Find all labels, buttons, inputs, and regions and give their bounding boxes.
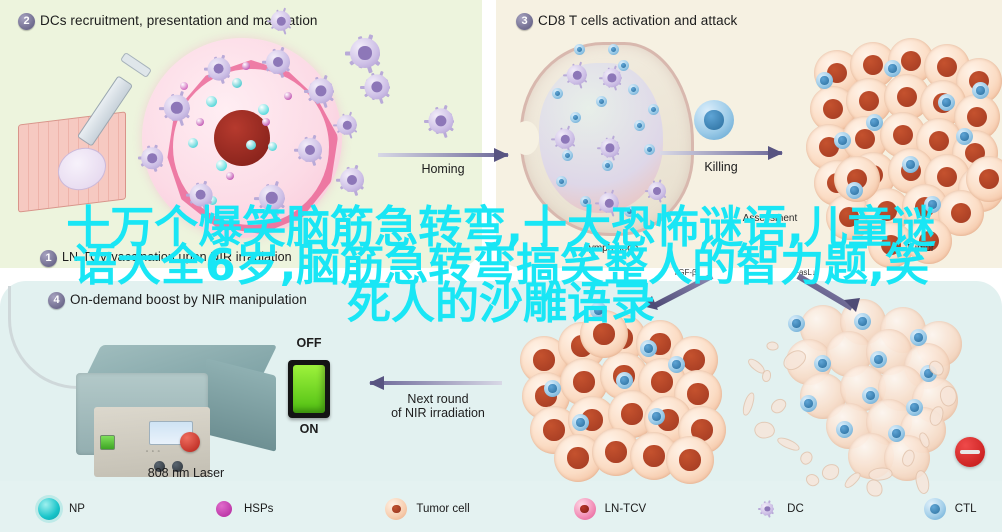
- ctl-cell: [884, 60, 901, 77]
- vaccine-surface-particle: [188, 138, 198, 148]
- dc-nucleus: [435, 115, 446, 126]
- laser-status-leds: ▫ ▫ ▫: [146, 449, 161, 455]
- legend-row: NP HSPs Tumor cell LN-TCV DC CTL: [0, 486, 1002, 532]
- laser-front-panel: ▫ ▫ ▫: [76, 373, 208, 455]
- ctl-cell: [608, 44, 619, 55]
- dendritic-cell: [134, 140, 170, 176]
- dc-nucleus: [277, 17, 286, 26]
- step-label-4: On-demand boost by NIR manipulation: [70, 292, 307, 307]
- dc-body: [555, 129, 575, 149]
- ctl-cell: [570, 112, 581, 123]
- dendritic-cell: [300, 70, 342, 112]
- dc-nucleus: [358, 46, 371, 59]
- tumor-cell-icon: [385, 498, 407, 520]
- legend-label-tumor-cell: Tumor cell: [416, 503, 469, 515]
- dc-icon: [756, 498, 778, 520]
- ctl-cell: [846, 182, 863, 199]
- next-round-label-line2: of NIR irradiation: [368, 406, 508, 420]
- ctl-cell: [552, 88, 563, 99]
- vaccine-surface-particle: [216, 160, 227, 171]
- switch-on-label: ON: [278, 422, 340, 436]
- dc-body: [298, 138, 322, 162]
- dc-nucleus: [573, 71, 582, 80]
- step-label-3: CD8 T cells activation and attack: [538, 13, 737, 28]
- ctl-cell: [648, 408, 665, 425]
- dc-body: [350, 38, 380, 68]
- dc-nucleus: [605, 199, 614, 208]
- laser-caption: 808 nm Laser: [86, 466, 286, 480]
- dendritic-cell: [250, 176, 294, 220]
- step-label-1: LN-TCV vaccination upon NIR irradiation: [62, 250, 292, 264]
- ctl-cell: [956, 128, 973, 145]
- dc-body: [271, 11, 291, 31]
- laser-emergency-stop-button[interactable]: [180, 432, 200, 452]
- step-badge-2: 2: [18, 13, 35, 30]
- ctl-cell-center: [694, 100, 734, 140]
- ctl-cell: [972, 82, 989, 99]
- ctl-cell: [836, 421, 853, 438]
- dc-nucleus: [653, 187, 661, 195]
- step-badge-1: 1: [40, 250, 57, 267]
- ctl-icon: [924, 498, 946, 520]
- dc-nucleus: [561, 135, 570, 144]
- dc-nucleus: [315, 85, 326, 96]
- homing-label: Homing: [378, 162, 508, 176]
- ctl-cell: [870, 351, 887, 368]
- vaccine-surface-particle: [246, 140, 256, 150]
- tumor-label: Tumor: [880, 243, 960, 254]
- tumor-mass-step3: [806, 36, 996, 236]
- dc-nucleus: [273, 57, 284, 68]
- dc-nucleus: [147, 153, 157, 163]
- ctl-cell: [644, 144, 655, 155]
- next-round-arrow: [370, 378, 502, 387]
- vaccine-core: [214, 110, 270, 166]
- switch-rocker[interactable]: [293, 365, 325, 413]
- legend-label-ln-tcv: LN-TCV: [605, 503, 647, 515]
- laser-side-panel: [206, 358, 276, 451]
- dendritic-cell: [155, 86, 199, 130]
- dendritic-cell: [264, 4, 298, 38]
- vaccine-surface-particle: [226, 172, 234, 180]
- lymph-node-label: Lymph node: [556, 243, 666, 254]
- dc-body: [337, 115, 357, 135]
- legend-label-ctl: CTL: [955, 503, 977, 515]
- nir-power-switch[interactable]: [288, 360, 330, 418]
- ctl-cell: [572, 414, 589, 431]
- ctl-cell: [618, 60, 629, 71]
- tumor-cell: [666, 436, 714, 484]
- tumor-mass-shrinking: [520, 300, 730, 470]
- legend-item-hsps: HSPs: [213, 498, 273, 520]
- tumor-cell: [906, 218, 952, 264]
- step-badge-4: 4: [48, 292, 65, 309]
- ctl-cell: [544, 380, 561, 397]
- dendritic-cell: [420, 100, 462, 142]
- dc-nucleus: [347, 175, 358, 186]
- dc-nucleus: [606, 144, 614, 152]
- scientific-figure: 2 DCs recruitment, presentation and matu…: [0, 0, 1002, 532]
- tumor-mass-destroyed: [770, 295, 970, 475]
- homing-arrow: [378, 150, 508, 159]
- dc-nucleus: [371, 81, 382, 92]
- ctl-cell: [574, 44, 585, 55]
- legend-item-ctl: CTL: [924, 498, 977, 520]
- ctl-cell: [640, 340, 657, 357]
- ctl-cell: [924, 196, 941, 213]
- legend-item-ln-tcv: LN-TCV: [574, 498, 647, 520]
- dc-nucleus: [196, 190, 206, 200]
- ctl-cell: [862, 387, 879, 404]
- dendritic-cell: [330, 108, 364, 142]
- hsps-icon: [213, 498, 235, 520]
- vaccine-surface-particle: [284, 92, 292, 100]
- lymph-node-notch: [513, 121, 539, 155]
- dendritic-cell: [182, 176, 220, 214]
- switch-off-label: OFF: [278, 336, 340, 350]
- legend-label-dc: DC: [787, 503, 804, 515]
- ctl-cell: [800, 395, 817, 412]
- dc-nucleus: [343, 121, 352, 130]
- ctl-cell: [556, 176, 567, 187]
- ctl-cell: [816, 72, 833, 89]
- dc-nucleus: [266, 192, 278, 204]
- laser-green-button[interactable]: [100, 435, 115, 450]
- ctl-cell: [596, 96, 607, 107]
- dc-nucleus: [764, 506, 770, 512]
- vaccine-surface-particle: [258, 104, 269, 115]
- dc-body: [208, 58, 231, 81]
- legend-item-dc: DC: [756, 498, 804, 520]
- legend-label-hsps: HSPs: [244, 503, 273, 515]
- dc-nucleus: [608, 74, 616, 82]
- dendritic-cell: [332, 160, 372, 200]
- dendritic-cell: [200, 50, 238, 88]
- dendritic-cell: [560, 58, 594, 92]
- dendritic-cell: [756, 498, 778, 520]
- inhibition-stop-icon: [955, 437, 985, 467]
- dendritic-cell: [594, 132, 626, 164]
- dc-nucleus: [171, 102, 183, 114]
- ctl-cell: [580, 196, 591, 207]
- dendritic-cell: [258, 42, 298, 82]
- vaccine-surface-particle: [242, 62, 250, 70]
- dendritic-cell: [290, 130, 330, 170]
- dc-body: [190, 184, 213, 207]
- ctl-cell: [668, 356, 685, 373]
- ctl-cell: [628, 84, 639, 95]
- legend-item-np: NP: [38, 498, 85, 520]
- step-badge-3: 3: [516, 13, 533, 30]
- ctl-cell: [906, 399, 923, 416]
- ln-tcv-icon: [574, 498, 596, 520]
- vaccine-surface-particle: [262, 118, 270, 126]
- ctl-cell: [910, 329, 927, 346]
- dc-nucleus: [305, 145, 316, 156]
- legend-item-tumor-cell: Tumor cell: [385, 498, 469, 520]
- ctl-cell: [814, 355, 831, 372]
- dc-body: [266, 50, 290, 74]
- marker-arrows: [600, 272, 940, 322]
- dc-nucleus: [214, 64, 224, 74]
- legend-label-np: NP: [69, 503, 85, 515]
- killing-label: Killing: [660, 160, 782, 174]
- ctl-cell: [834, 132, 851, 149]
- ctl-cell: [866, 114, 883, 131]
- vaccine-surface-particle: [268, 142, 277, 151]
- dc-body: [567, 65, 587, 85]
- ctl-cell: [902, 156, 919, 173]
- dc-body: [141, 147, 163, 169]
- vaccine-surface-particle: [206, 96, 217, 107]
- ctl-cell: [562, 150, 573, 161]
- next-round-label-line1: Next round: [368, 392, 508, 406]
- ctl-cell: [938, 94, 955, 111]
- assessment-label: Assessment: [700, 213, 840, 224]
- dendritic-cell: [356, 66, 398, 108]
- ctl-cell: [602, 160, 613, 171]
- dendritic-cell: [642, 176, 672, 206]
- ctl-cell: [634, 120, 645, 131]
- dc-body: [340, 168, 364, 192]
- 808nm-laser-device: ▫ ▫ ▫: [66, 345, 296, 465]
- ctl-cell: [616, 372, 633, 389]
- dc-body: [599, 193, 619, 213]
- ctl-cell: [888, 425, 905, 442]
- ctl-cell: [648, 104, 659, 115]
- np-icon: [38, 498, 60, 520]
- killing-arrow: [660, 148, 782, 157]
- dendritic-cell: [592, 186, 626, 220]
- dc-body: [648, 182, 666, 200]
- ctl-cell: [624, 206, 635, 217]
